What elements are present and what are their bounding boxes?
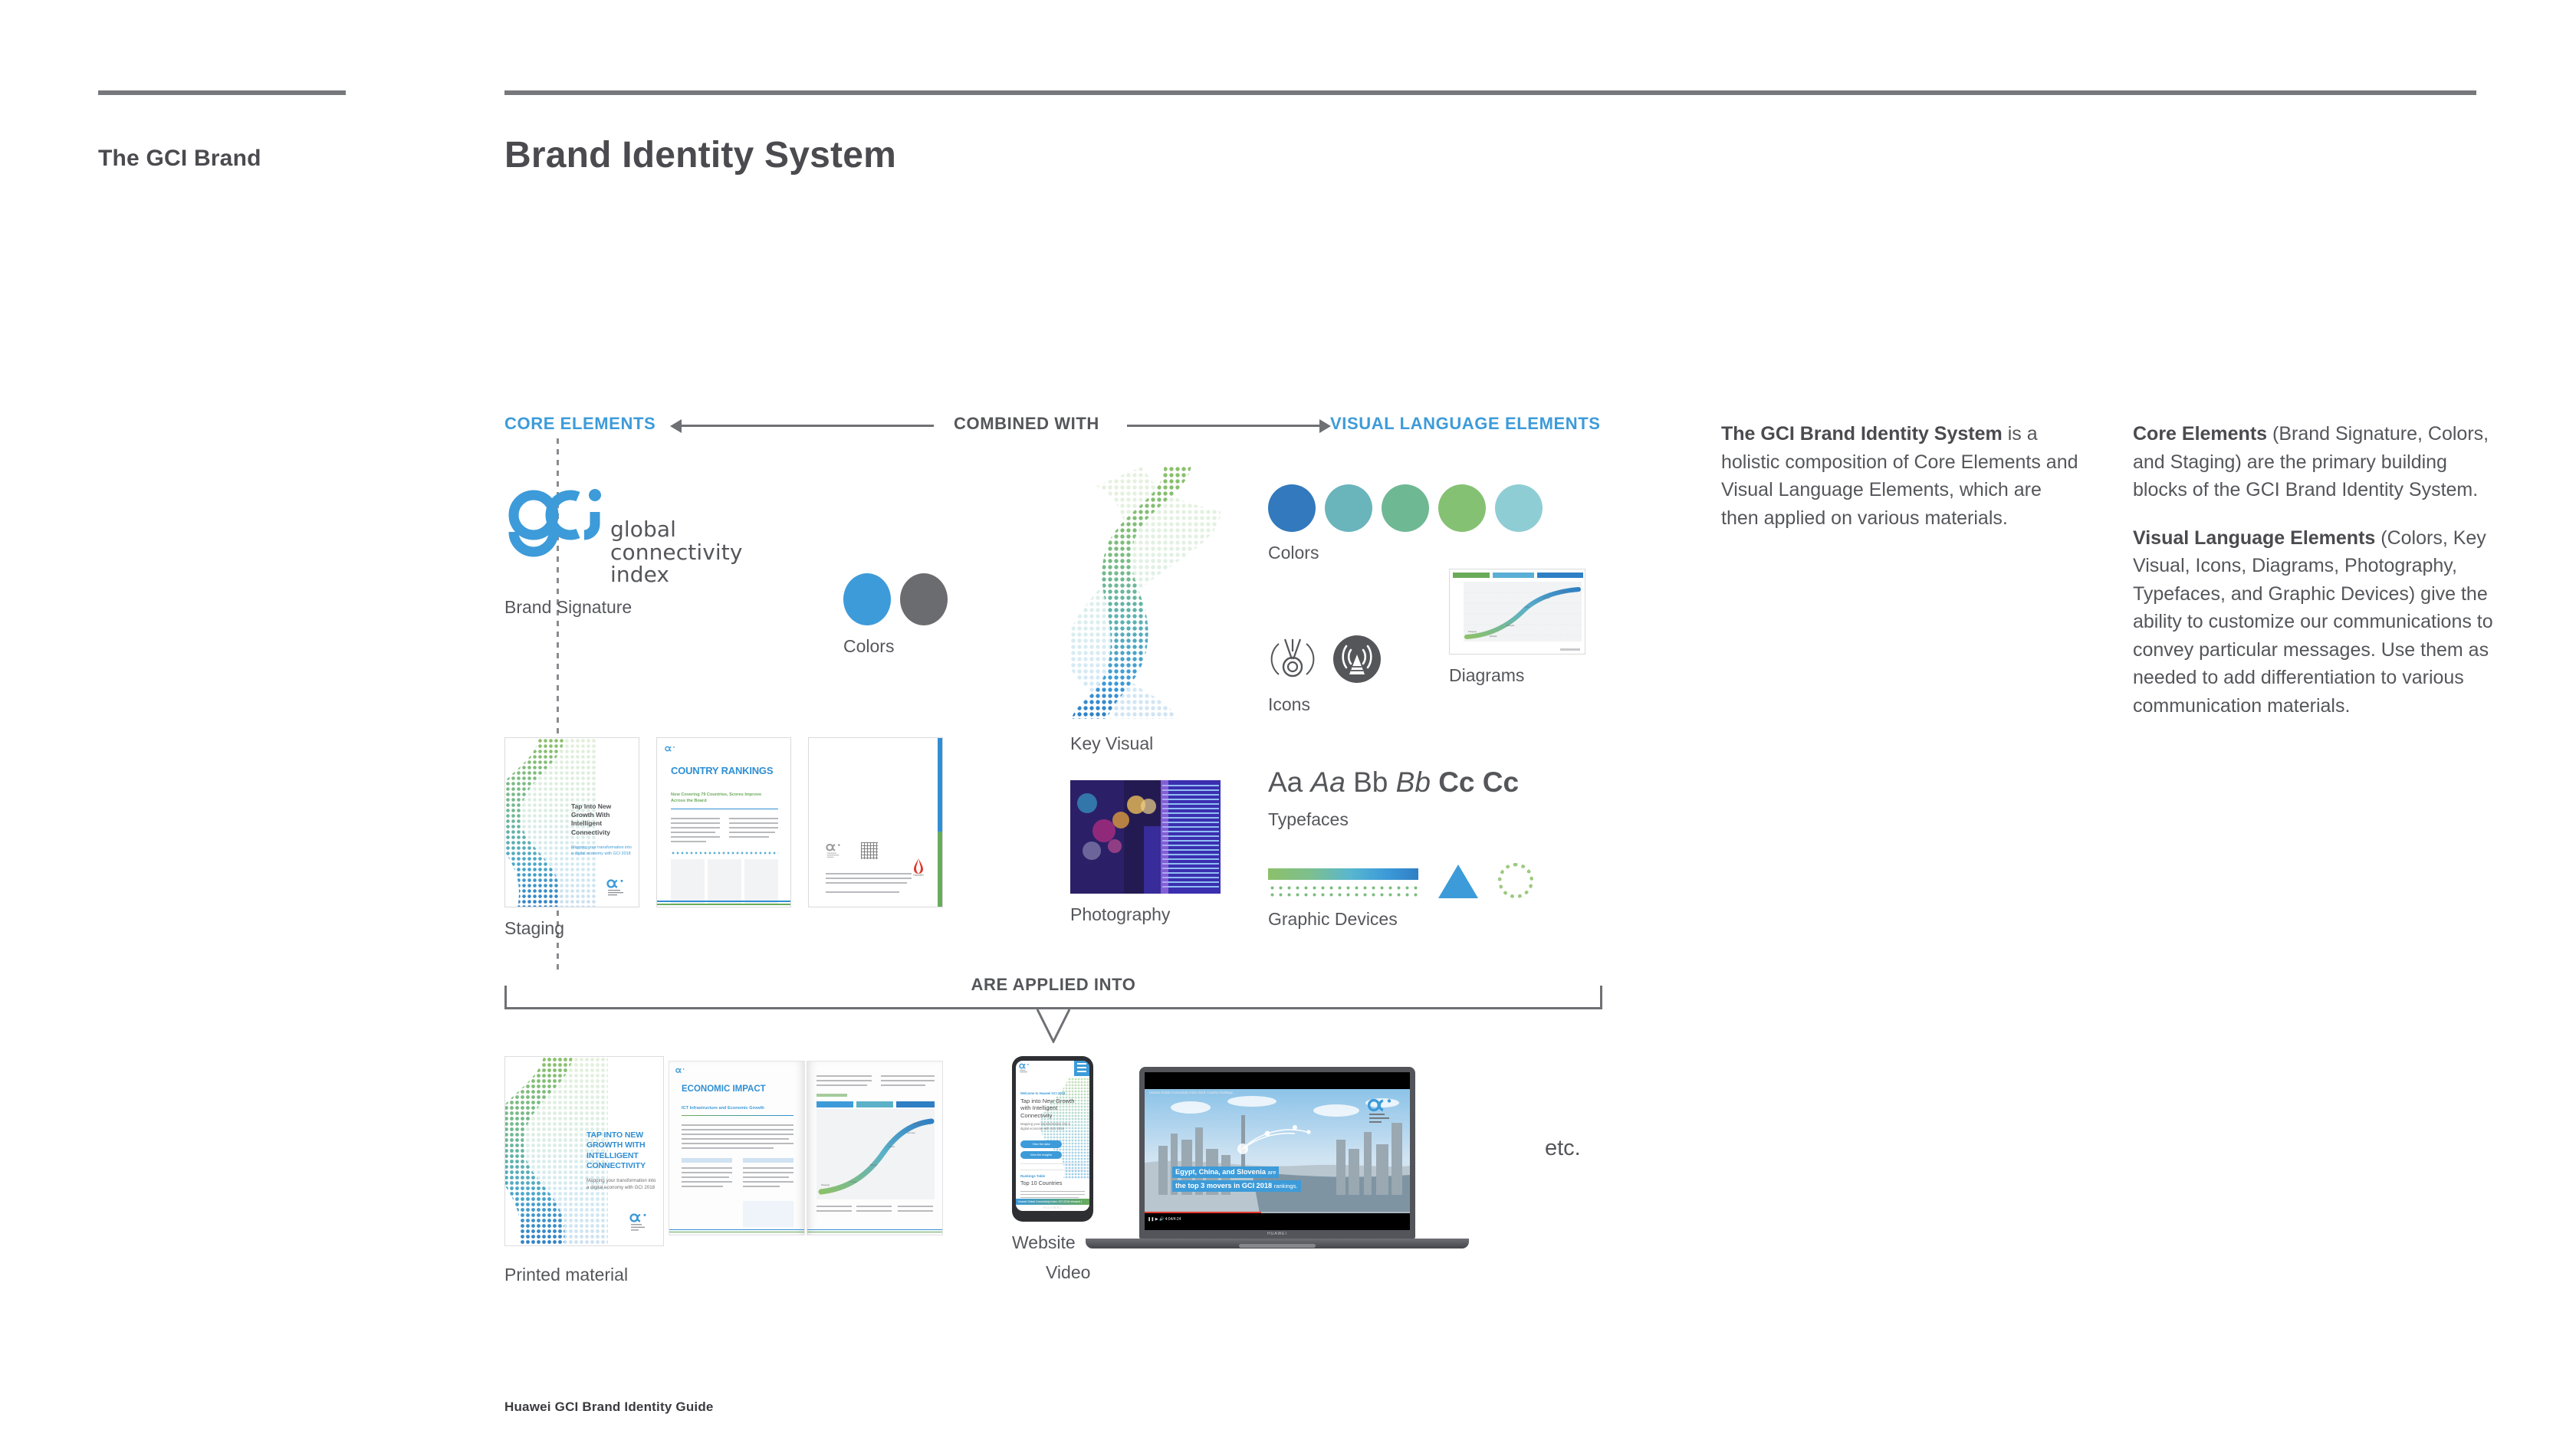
hamburger-menu-icon[interactable] [1074, 1061, 1089, 1076]
caption-video: Video [1046, 1262, 1375, 1283]
triangle-icon [1438, 865, 1478, 898]
staging-thumbnails: Tap Into New Growth With Intelligent Con… [504, 737, 943, 907]
core-color-swatches [843, 573, 948, 625]
staging-cover-subtitle: Mapping your transformation into a digit… [571, 845, 634, 857]
swatch-teal [1325, 484, 1372, 532]
caption-brand-signature: Brand Signature [504, 597, 743, 618]
phone-device-brand: HUAWEI [1016, 1206, 1089, 1209]
dot-pattern-icon [1268, 884, 1418, 898]
staging-thumb-back-cover: HUAWEI [808, 737, 943, 907]
svg-text:India: India [1525, 605, 1529, 609]
staging-rankings-subtitle: Now Covering 79 Countries, Scores Improv… [671, 792, 770, 804]
staging-rankings-rule [671, 809, 778, 809]
svg-text:France: France [1543, 596, 1550, 599]
page-title: Brand Identity System [504, 134, 896, 176]
website-topbar [1016, 1061, 1089, 1076]
gci-mini-logo-icon [606, 879, 629, 896]
swatch-deep-blue [1268, 484, 1316, 532]
website-rankings-eyebrow: Rankings Table [1020, 1174, 1045, 1178]
flow-header: CORE ELEMENTS COMBINED WITH VISUAL LANGU… [504, 414, 1602, 440]
label-are-applied-into: ARE APPLIED INTO [504, 975, 1602, 995]
svg-text:France: France [889, 1145, 895, 1148]
typeface-samples: Aa Aa Bb Bb Cc Cc [1268, 766, 1519, 799]
svg-text:Singapore: Singapore [913, 1122, 922, 1125]
svg-text:Malaysia: Malaysia [1506, 624, 1515, 627]
etc-label: etc. [1545, 1136, 1581, 1161]
svg-text:Paraguay: Paraguay [1468, 630, 1477, 633]
video-caption-line-1: Egypt, China, and Slovenia are [1172, 1166, 1279, 1178]
description-paragraph-a: The GCI Brand Identity System is a holis… [1721, 420, 2081, 532]
typeface-sample-4: Bb [1396, 766, 1431, 798]
arrow-left-icon [681, 425, 934, 427]
video-caption-bold-1: Egypt, China, and Slovenia [1175, 1168, 1266, 1176]
medal-icon [1268, 635, 1317, 684]
spread-title: ECONOMIC IMPACT [682, 1084, 766, 1094]
bracket-left-tick [504, 986, 507, 1009]
caption-printed-material: Printed material [504, 1265, 628, 1285]
svg-text:Norway: Norway [1560, 590, 1567, 593]
core-colors-cell: Colors [843, 573, 948, 657]
video-title: Huawei Global Connectivity Index 2018: C… [1149, 1091, 1233, 1094]
svg-text:Ethiopia: Ethiopia [1490, 635, 1497, 638]
swatch-gray [900, 573, 948, 625]
header-rule-left [98, 90, 346, 95]
description-paragraph-b1: Core Elements (Brand Signature, Colors, … [2133, 420, 2493, 504]
are-applied-into-bracket: ARE APPLIED INTO [504, 975, 1602, 1044]
typeface-sample-5: Cc [1438, 766, 1474, 798]
huawei-logo-icon: HUAWEI [907, 858, 930, 876]
key-visual-cell: Key Visual [1070, 466, 1224, 754]
gci-logo: global connectivity index [504, 484, 743, 586]
laptop-base: HUAWEI [1086, 1239, 1469, 1248]
staging-cell: Tap Into New Growth With Intelligent Con… [504, 737, 943, 939]
staging-thumb-cover: Tap Into New Growth With Intelligent Con… [504, 737, 639, 907]
phone-screen: Welcome to Huawei GCI 2018 Tap into New … [1016, 1061, 1089, 1211]
view-the-data-button[interactable]: View the data [1020, 1140, 1062, 1148]
website-cell: Welcome to Huawei GCI 2018 Tap into New … [1012, 1056, 1093, 1253]
gci-word-global: global [610, 518, 743, 541]
video-caption-light-2: rankings. [1274, 1183, 1298, 1189]
photography-cell: Photography [1070, 780, 1221, 925]
website-body: Mapping your transformation into a digit… [1020, 1122, 1079, 1132]
report-cover-thumbnail: TAP INTO NEW GROWTH WITH INTELLIGENT CON… [504, 1056, 664, 1246]
swatch-green-teal [1382, 484, 1429, 532]
applied-materials: TAP INTO NEW GROWTH WITH INTELLIGENT CON… [504, 1056, 1854, 1246]
diagram-thumbnail: ParaguayEthiopia MalaysiaIndia FranceNor… [1449, 569, 1585, 655]
description-paragraph-b2: Visual Language Elements (Colors, Key Vi… [2133, 524, 2493, 720]
gci-mini-logo-icon [1019, 1063, 1033, 1074]
caption-typefaces: Typefaces [1268, 809, 1519, 830]
website-headline: Tap into New Growth with Intelligent Con… [1020, 1098, 1085, 1119]
description-column-b: Core Elements (Brand Signature, Colors, … [2133, 420, 2493, 740]
gradient-bar-icon [1268, 868, 1418, 898]
website-rankings-title: Top 10 Countries [1020, 1180, 1062, 1186]
svg-text:Tunisia: Tunisia [850, 1180, 857, 1183]
video-cell: Huawei Global Connectivity Index 2018: C… [1139, 1067, 1469, 1280]
description-a-lead: The GCI Brand Identity System [1721, 423, 2003, 445]
gci-mini-logo-icon [675, 1068, 688, 1078]
video-controls[interactable]: ❚❚ ▶ 🔊 4:04/4:24 [1148, 1217, 1181, 1222]
video-progress-bar[interactable] [1145, 1212, 1410, 1213]
gci-logo-mark-icon [504, 484, 604, 575]
spread-subtitle: ICT Infrastructure and Economic Growth [682, 1106, 764, 1111]
arrow-down-icon [1036, 1009, 1071, 1043]
icon-examples [1268, 635, 1382, 684]
video-caption-bold-2: the top 3 movers in GCI 2018 [1175, 1182, 1272, 1189]
caption-diagrams: Diagrams [1449, 665, 1585, 686]
photography-thumbnail [1070, 780, 1221, 894]
gci-word-connectivity: connectivity [610, 541, 743, 564]
report-spread-thumbnail: ECONOMIC IMPACT ICT Infrastructure and E… [669, 1056, 945, 1237]
video-caption: Egypt, China, and Slovenia are the top 3… [1172, 1164, 1301, 1192]
caption-graphic-devices: Graphic Devices [1268, 909, 1533, 930]
phone-device: Welcome to Huawei GCI 2018 Tap into New … [1012, 1056, 1093, 1222]
brand-identity-diagram: CORE ELEMENTS COMBINED WITH VISUAL LANGU… [504, 414, 1602, 440]
s-curve-chart-icon: ParaguayEthiopia MalaysiaIndia FranceNor… [1464, 582, 1582, 641]
spread-rule [682, 1115, 793, 1116]
label-core-elements: CORE ELEMENTS [504, 414, 655, 434]
spread-left-page: ECONOMIC IMPACT ICT Infrastructure and E… [669, 1061, 805, 1235]
gci-mini-logo-icon [629, 1213, 652, 1232]
description-b1-lead: Core Elements [2133, 423, 2267, 445]
laptop-screen: Huawei Global Connectivity Index 2018: C… [1145, 1072, 1410, 1230]
slide-page: The GCI Brand Brand Identity System CORE… [0, 0, 2576, 1447]
svg-text:HUAWEI: HUAWEI [913, 874, 923, 876]
label-combined-with: COMBINED WITH [954, 414, 1099, 434]
description-column-a: The GCI Brand Identity System is a holis… [1721, 420, 2081, 552]
swatch-light-teal [1495, 484, 1543, 532]
city-lights-photo-icon [1070, 780, 1221, 894]
typeface-sample-6: Cc [1483, 766, 1519, 798]
laptop-device-brand: HUAWEI [1267, 1232, 1287, 1236]
caption-vle-colors: Colors [1268, 543, 1543, 563]
vle-colors-cell: Colors [1268, 484, 1543, 563]
icons-cell: Icons [1268, 635, 1382, 715]
graphic-device-examples [1268, 863, 1533, 898]
typefaces-cell: Aa Aa Bb Bb Cc Cc Typefaces [1268, 766, 1519, 830]
typeface-sample-1: Aa [1268, 766, 1303, 798]
swatch-blue [843, 573, 891, 625]
staging-rankings-title: COUNTRY RANKINGS [671, 766, 773, 776]
header-rule-right [504, 90, 2476, 95]
caption-key-visual: Key Visual [1070, 733, 1224, 754]
svg-text:Germany: Germany [907, 1131, 915, 1134]
gci-mini-logo-icon [1367, 1098, 1401, 1124]
laptop-device: Huawei Global Connectivity Index 2018: C… [1139, 1067, 1415, 1239]
website-eyebrow: Welcome to Huawei GCI 2018 [1020, 1091, 1065, 1095]
video-caption-light-1: are [1268, 1169, 1276, 1176]
staging-cover-title: Tap Into New Growth With Intelligent Con… [571, 802, 636, 837]
laptop-hinge-notch [1239, 1244, 1316, 1248]
svg-text:Bahrain: Bahrain [870, 1163, 877, 1166]
description-b2-text: (Colors, Key Visual, Icons, Diagrams, Ph… [2133, 527, 2493, 717]
s-curve-chart-icon: ParaguayTunisia BahrainFrance GermanySin… [816, 1109, 935, 1199]
gradient-bar-fill [1268, 868, 1418, 880]
footer-text: Huawei GCI Brand Identity Guide [504, 1399, 714, 1415]
broadcast-tower-icon [1332, 635, 1382, 684]
report-cover-title: TAP INTO NEW GROWTH WITH INTELLIGENT CON… [586, 1130, 660, 1172]
caption-staging: Staging [504, 918, 943, 939]
staging-thumb-rankings: COUNTRY RANKINGS Now Covering 79 Countri… [656, 737, 791, 907]
diagrams-cell: ParaguayEthiopia MalaysiaIndia FranceNor… [1449, 569, 1585, 686]
swatch-green [1438, 484, 1486, 532]
report-cover-subtitle: Mapping your transformation into a digit… [586, 1178, 657, 1191]
gci-mini-logo-icon [826, 842, 846, 859]
typeface-sample-2: Aa [1311, 766, 1345, 798]
qr-code-icon [861, 842, 878, 859]
section-label: The GCI Brand [98, 146, 261, 172]
caption-website: Website [1012, 1232, 1093, 1253]
graphic-devices-cell: Graphic Devices [1268, 863, 1533, 930]
dotted-circle-icon [1498, 863, 1533, 898]
typeface-sample-3: Bb [1353, 766, 1388, 798]
gci-word-index: index [610, 563, 743, 586]
arrow-right-icon [1127, 425, 1320, 427]
vle-color-swatches [1268, 484, 1543, 532]
gci-mini-logo-icon [665, 746, 678, 756]
svg-text:Paraguay: Paraguay [821, 1183, 830, 1186]
bracket-right-tick [1600, 986, 1602, 1009]
video-caption-line-2: the top 3 movers in GCI 2018 rankings. [1172, 1180, 1301, 1192]
spread-right-page: ParaguayTunisia BahrainFrance GermanySin… [807, 1061, 943, 1235]
caption-core-colors: Colors [843, 636, 948, 657]
caption-photography: Photography [1070, 904, 1221, 925]
label-visual-language-elements: VISUAL LANGUAGE ELEMENTS [1330, 414, 1601, 434]
website-ticker: Huawei Global Connectivity Index: GCI 20… [1016, 1199, 1089, 1205]
gci-logo-wordmark: global connectivity index [610, 518, 743, 586]
view-the-insights-button[interactable]: View the insights [1020, 1151, 1062, 1159]
brand-signature-cell: global connectivity index Brand Signatur… [504, 484, 743, 618]
key-visual-ribbon-icon [1070, 466, 1224, 719]
description-b2-lead: Visual Language Elements [2133, 527, 2375, 549]
back-cover-stripe [938, 738, 942, 907]
caption-icons: Icons [1268, 694, 1382, 715]
